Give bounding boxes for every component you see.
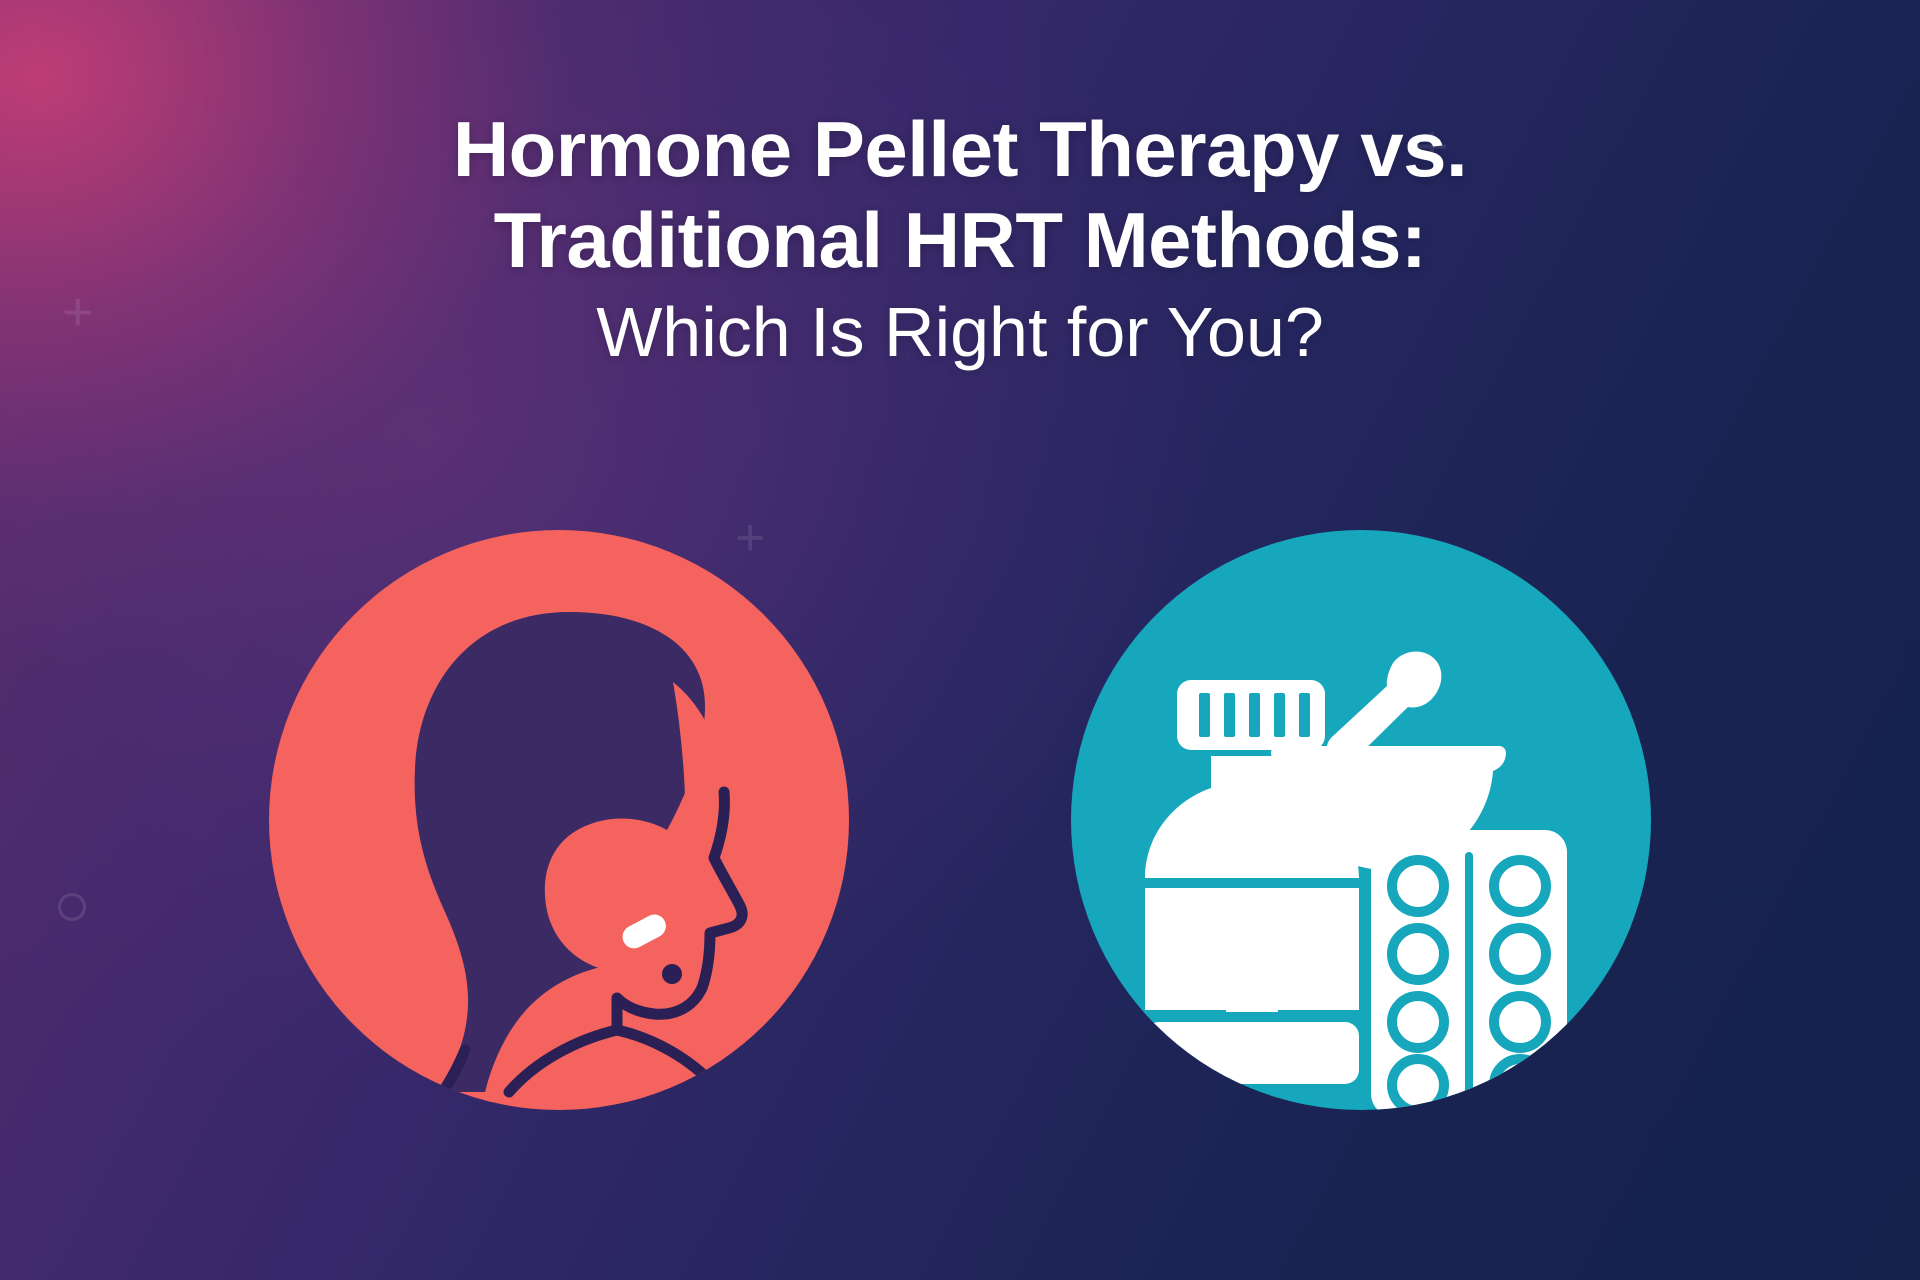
woman-profile-badge: [269, 530, 849, 1110]
pill-blister-pack-icon: [1371, 830, 1567, 1110]
medication-icons-badge: [1071, 530, 1651, 1110]
illustration-row: [0, 520, 1920, 1120]
hero-banner: + + + + Hormone Pellet Therapy vs. Tradi…: [0, 0, 1920, 1280]
ear-shape: [569, 847, 611, 926]
subtitle: Which Is Right for You?: [120, 287, 1800, 378]
page-title: Hormone Pellet Therapy vs. Traditional H…: [0, 104, 1920, 378]
title-line-2: Traditional HRT Methods:: [120, 195, 1800, 286]
injection-dot-icon: [662, 964, 682, 984]
title-line-1: Hormone Pellet Therapy vs.: [120, 104, 1800, 195]
